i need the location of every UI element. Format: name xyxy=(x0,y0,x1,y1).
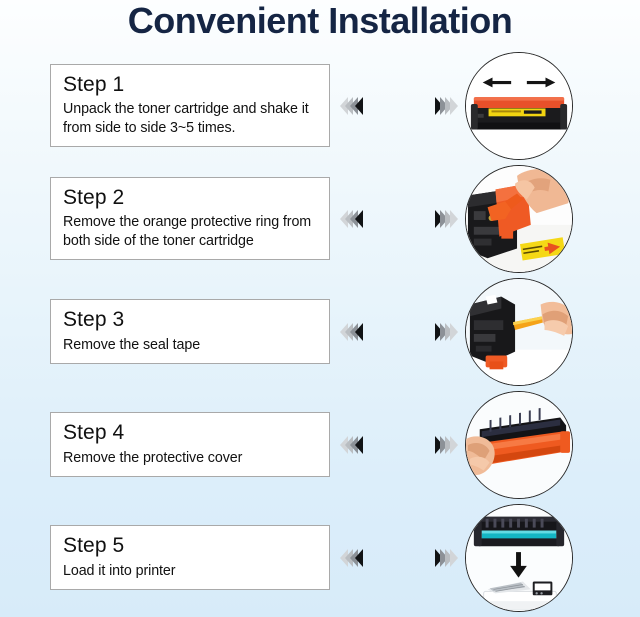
toner-cartridge-shake-illustration xyxy=(465,52,573,160)
right-chevrons xyxy=(435,549,458,567)
load-into-printer-illustration xyxy=(465,504,573,612)
step-description: Remove the seal tape xyxy=(63,336,319,354)
chevron-left-icon xyxy=(355,549,363,567)
chevron-right-icon xyxy=(450,436,458,454)
chevron-right-icon xyxy=(450,210,458,228)
step-title: Step 4 xyxy=(63,421,319,445)
step-card-5: Step 5 Load it into printer xyxy=(50,525,330,590)
chevron-right-icon xyxy=(450,323,458,341)
chevron-divider xyxy=(340,210,458,228)
step-row: Step 1 Unpack the toner cartridge and sh… xyxy=(0,54,640,158)
right-chevrons xyxy=(435,210,458,228)
step-description: Unpack the toner cartridge and shake it … xyxy=(63,100,319,137)
left-chevrons xyxy=(340,210,363,228)
right-chevrons xyxy=(435,436,458,454)
step-description: Remove the protective cover xyxy=(63,449,319,467)
step-row: Step 2 Remove the orange protective ring… xyxy=(0,167,640,271)
step-description: Remove the orange protective ring from b… xyxy=(63,213,319,250)
chevron-left-icon xyxy=(355,323,363,341)
left-chevrons xyxy=(340,436,363,454)
chevron-divider xyxy=(340,97,458,115)
remove-protective-cover-illustration xyxy=(465,391,573,499)
step-row: Step 5 Load it into printer xyxy=(0,506,640,610)
step-card-1: Step 1 Unpack the toner cartridge and sh… xyxy=(50,64,330,147)
chevron-divider xyxy=(340,436,458,454)
chevron-right-icon xyxy=(450,97,458,115)
step-title: Step 5 xyxy=(63,534,319,558)
step-card-4: Step 4 Remove the protective cover xyxy=(50,412,330,477)
step-card-2: Step 2 Remove the orange protective ring… xyxy=(50,177,330,260)
step-title: Step 1 xyxy=(63,73,319,97)
chevron-divider xyxy=(340,549,458,567)
step-card-3: Step 3 Remove the seal tape xyxy=(50,299,330,364)
left-chevrons xyxy=(340,323,363,341)
remove-orange-ring-illustration xyxy=(465,165,573,273)
left-chevrons xyxy=(340,97,363,115)
chevron-left-icon xyxy=(355,97,363,115)
chevron-divider xyxy=(340,323,458,341)
chevron-left-icon xyxy=(355,436,363,454)
installation-steps-list: Step 1 Unpack the toner cartridge and sh… xyxy=(0,54,640,610)
remove-seal-tape-illustration xyxy=(465,278,573,386)
step-title: Step 2 xyxy=(63,186,319,210)
step-title: Step 3 xyxy=(63,308,319,332)
left-chevrons xyxy=(340,549,363,567)
step-row: Step 3 Remove the seal tape xyxy=(0,280,640,384)
chevron-left-icon xyxy=(355,210,363,228)
chevron-right-icon xyxy=(450,549,458,567)
right-chevrons xyxy=(435,323,458,341)
right-chevrons xyxy=(435,97,458,115)
step-description: Load it into printer xyxy=(63,562,319,580)
page-title: Convenient Installation xyxy=(0,0,640,41)
step-row: Step 4 Remove the protective cover xyxy=(0,393,640,497)
